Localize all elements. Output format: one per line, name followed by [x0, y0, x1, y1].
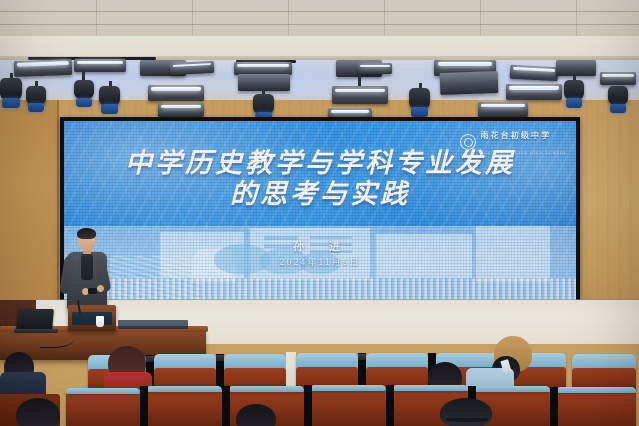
bar-light — [600, 72, 636, 85]
spotlight — [0, 78, 22, 108]
bar-light — [14, 59, 73, 77]
spotlight-body — [409, 88, 430, 109]
seat-writing-tablet — [216, 355, 224, 361]
seat-frame — [66, 392, 140, 426]
wall-panel-edge — [57, 100, 59, 308]
ceiling-seam — [96, 0, 97, 36]
spotlight-body — [74, 80, 94, 99]
cap-brim — [446, 418, 488, 422]
ceiling-seam — [288, 0, 289, 36]
spotlight-body — [99, 86, 120, 106]
wall-left-panel — [0, 100, 58, 308]
seat-gap — [304, 385, 312, 426]
audience-head — [16, 398, 60, 426]
seat-writing-tablet — [358, 354, 366, 360]
bar-light — [332, 86, 388, 104]
seat-frame — [556, 391, 636, 426]
seat-cushion — [310, 385, 386, 391]
ceiling-seam — [480, 0, 481, 36]
ceiling-seam — [384, 0, 385, 36]
presentation-slide: 雨花台初级中学 YUHUATAI JUNIOR HIGH SCHOOL 中学历史… — [64, 121, 576, 300]
spotlight-lens — [76, 98, 93, 107]
light-yoke — [358, 75, 361, 86]
seat-gap — [140, 386, 148, 426]
bar-light — [478, 102, 528, 117]
seat-gap — [386, 385, 394, 426]
speaker-hand-right — [97, 285, 104, 292]
speaker-shirt — [81, 254, 93, 280]
seat-cushion — [556, 387, 636, 393]
led-pixel-texture — [64, 121, 576, 300]
box-light — [440, 71, 499, 95]
bar-light — [510, 65, 559, 81]
spotlight — [564, 80, 584, 108]
spotlight-body — [564, 80, 584, 100]
ceiling-lower-panel — [0, 36, 639, 58]
paper-cup — [96, 316, 104, 327]
speaker-hair — [77, 228, 96, 239]
spotlight — [409, 88, 430, 117]
spotlight-lens — [411, 107, 429, 117]
seat-frame — [146, 390, 222, 426]
ceiling-seam — [192, 0, 193, 36]
bar-light — [170, 61, 215, 75]
spotlight — [608, 86, 628, 113]
seat-gap — [222, 386, 230, 426]
spotlight-lens — [2, 98, 20, 108]
box-light — [556, 60, 596, 76]
laptop-screen — [16, 309, 54, 330]
bar-light — [506, 84, 562, 100]
bar-light — [158, 103, 204, 117]
seat-gap — [550, 387, 558, 426]
bar-light — [358, 63, 392, 74]
presentation-clicker — [88, 288, 97, 294]
bar-light — [148, 85, 204, 101]
seat-writing-tablet — [146, 356, 154, 362]
seat-cushion — [474, 386, 550, 392]
spotlight-body — [0, 78, 22, 100]
spotlight — [99, 86, 120, 114]
spotlight-lens — [101, 104, 119, 114]
spotlight-lens — [566, 98, 583, 108]
led-display-frame: 雨花台初级中学 YUHUATAI JUNIOR HIGH SCHOOL 中学历史… — [60, 117, 580, 304]
seat-cushion — [392, 385, 468, 391]
spotlight-body — [253, 94, 274, 114]
spotlight — [74, 80, 94, 107]
desk-items — [118, 320, 188, 329]
seat-cushion — [146, 386, 222, 392]
podium-control-panel — [72, 312, 112, 325]
seat-cushion — [66, 388, 140, 394]
spotlight-body — [26, 86, 46, 105]
spotlight-lens — [28, 103, 45, 112]
seat-cushion — [228, 386, 304, 392]
spotlight-body — [608, 86, 628, 105]
ceiling-seam — [576, 0, 577, 36]
lecture-hall-photo: 雨花台初级中学 YUHUATAI JUNIOR HIGH SCHOOL 中学历史… — [0, 0, 639, 426]
seat-frame — [310, 389, 386, 426]
audience-head — [236, 404, 276, 426]
spotlight — [26, 86, 46, 112]
spotlight-lens — [610, 104, 627, 113]
